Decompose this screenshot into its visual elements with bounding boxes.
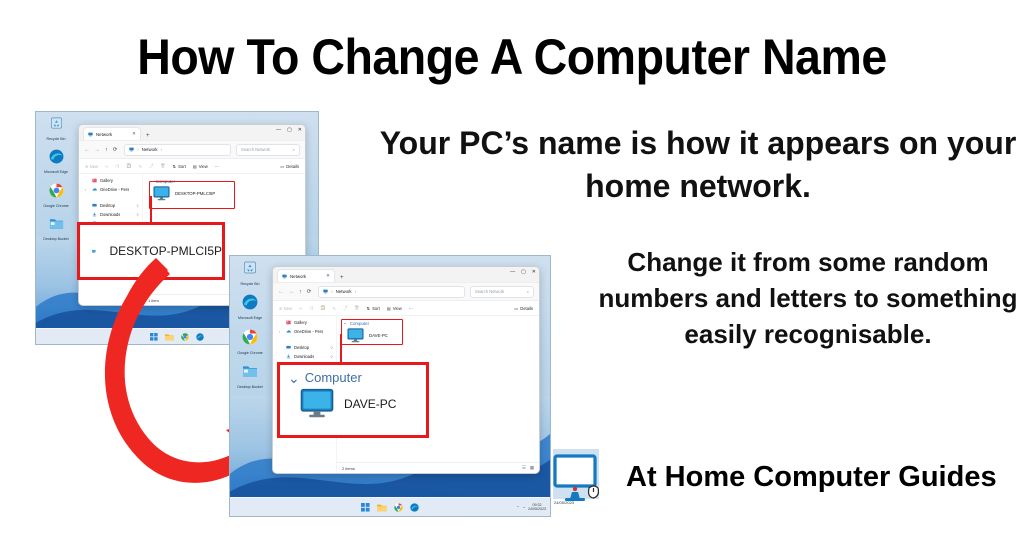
desktop-folder-icon[interactable] <box>242 363 258 379</box>
sidebar-item-desktop[interactable]: Desktop ⚲ <box>276 345 333 350</box>
sidebar-item-label: OneDrive - Pers <box>294 329 323 334</box>
onedrive-icon <box>92 187 97 192</box>
desktop-icon-label: Google Chrome <box>233 351 267 355</box>
callout-computer-row: DAVE-PC <box>288 388 418 419</box>
onedrive-icon <box>286 329 291 334</box>
system-tray[interactable]: ⌃ ◔ 09:32 24/05/2023 <box>516 503 546 511</box>
desktop-icon-label: Recycle Bin <box>39 137 73 141</box>
microsoft-edge-icon[interactable] <box>49 149 64 164</box>
delete-icon[interactable]: 🗑 <box>160 163 165 169</box>
delete-icon[interactable]: 🗑 <box>354 305 359 311</box>
monitor-icon <box>300 388 334 419</box>
back-button-icon[interactable]: ← <box>278 289 284 295</box>
sidebar-divider <box>82 196 139 199</box>
network-icon <box>88 132 93 137</box>
tab-network[interactable]: Network ✕ <box>277 269 335 282</box>
search-icon[interactable]: ⌕ <box>293 147 295 152</box>
taskbar[interactable]: ⌃ ◔ 09:32 24/05/2023 <box>230 497 550 516</box>
details-pane-button[interactable]: ▭ Details <box>514 306 533 311</box>
more-button[interactable]: ⋯ <box>409 306 413 311</box>
recycle-bin-icon[interactable] <box>49 116 64 131</box>
share-icon[interactable]: ⤴ <box>149 163 153 169</box>
recycle-bin-icon[interactable] <box>242 260 258 276</box>
close-tab-icon[interactable]: ✕ <box>132 131 136 137</box>
breadcrumb-separator: › <box>137 147 138 152</box>
minimize-button[interactable]: — <box>276 127 281 133</box>
computer-tile[interactable]: DAVE-PC <box>343 328 533 343</box>
close-button[interactable]: ✕ <box>532 269 536 275</box>
desktop-icon-google-chrome[interactable]: Google Chrome <box>39 183 73 208</box>
desktop-icon-recycle-bin[interactable]: Recycle Bin <box>39 116 73 141</box>
sidebar-item-label: Downloads <box>294 354 314 359</box>
gallery-icon <box>92 178 97 183</box>
title-bar[interactable]: Network ✕ + — ▢ ✕ <box>273 267 539 283</box>
page-title: How To Change A Computer Name <box>36 28 988 86</box>
network-icon <box>323 289 328 294</box>
forward-button-icon[interactable]: → <box>95 147 101 153</box>
body-paragraph: Change it from some random numbers and l… <box>592 245 1024 353</box>
desktop-icon-google-chrome[interactable]: Google Chrome <box>233 329 267 355</box>
close-button[interactable]: ✕ <box>298 127 302 133</box>
back-button-icon[interactable]: ← <box>84 147 90 153</box>
callout-connector-front-vertical <box>340 334 342 362</box>
downloads-icon <box>92 212 97 217</box>
tab-label: Network <box>290 274 306 279</box>
new-item-button[interactable]: ⊕ New <box>85 164 98 169</box>
network-icon <box>282 274 287 279</box>
callout-connector-back-vertical <box>150 196 152 222</box>
computer-name: DESKTOP-PMLCI5P <box>175 191 215 196</box>
details-pane-button[interactable]: ▭ Details <box>280 164 299 169</box>
sidebar-item-desktop[interactable]: Desktop ⚲ <box>82 203 139 208</box>
sort-button[interactable]: ⇅ Sort <box>367 306 380 311</box>
share-icon[interactable]: ⤴ <box>343 305 347 311</box>
sidebar-item-downloads[interactable]: Downloads ⚲ <box>276 354 333 359</box>
close-tab-icon[interactable]: ✕ <box>326 273 330 279</box>
desktop-folder-icon[interactable] <box>49 216 64 231</box>
computer-name: DAVE-PC <box>369 333 388 338</box>
up-button-icon[interactable]: ↑ <box>299 289 302 295</box>
tab-network[interactable]: Network ✕ <box>83 127 141 140</box>
search-input[interactable]: Search Network ⌕ <box>236 144 300 156</box>
maximize-button[interactable]: ▢ <box>287 127 292 133</box>
computer-tile[interactable]: DESKTOP-PMLCI5P <box>149 186 299 201</box>
brand-name: At Home Computer Guides <box>626 461 997 494</box>
pin-icon[interactable]: ⚲ <box>136 204 139 208</box>
breadcrumb-item-network[interactable]: Network <box>336 289 352 294</box>
chevron-down-icon[interactable]: ⌄ <box>343 320 347 326</box>
new-tab-button[interactable]: + <box>340 275 344 281</box>
details-label: Details <box>286 164 299 169</box>
view-toggle-group[interactable]: ☰ ▦ <box>522 465 534 471</box>
breadcrumb[interactable]: › Network › <box>318 286 465 298</box>
lead-paragraph: Your PC’s name is how it appears on your… <box>372 122 1024 208</box>
desktop-icon-recycle-bin[interactable]: Recycle Bin <box>233 260 267 286</box>
callout-group-label: Computer <box>305 370 362 385</box>
list-view-icon[interactable]: ☰ <box>522 465 526 471</box>
minimize-button[interactable]: — <box>510 269 515 275</box>
details-label: Details <box>520 306 533 311</box>
breadcrumb-separator: › <box>161 147 162 152</box>
sidebar-item-gallery[interactable]: Gallery <box>276 320 333 325</box>
sidebar-item-label: Gallery <box>294 320 307 325</box>
sidebar-item-label: Gallery <box>100 178 113 183</box>
maximize-button[interactable]: ▢ <box>521 269 526 275</box>
up-button-icon[interactable]: ↑ <box>105 147 108 153</box>
pin-icon[interactable]: ⚲ <box>330 355 333 359</box>
desktop-icon-microsoft-edge[interactable]: Microsoft Edge <box>39 149 73 174</box>
sidebar-item-onedrive[interactable]: › OneDrive - Pers <box>276 329 333 334</box>
view-button[interactable]: ▤ View <box>193 164 208 169</box>
clock-date: 24/05/2023 <box>528 507 546 511</box>
view-button[interactable]: ▤ View <box>387 306 402 311</box>
svg-text:24/05/2023: 24/05/2023 <box>554 500 575 505</box>
sort-button[interactable]: ⇅ Sort <box>173 164 186 169</box>
sidebar-item-label: Downloads <box>100 212 120 217</box>
desktop-icon-label: Desktop Bucket <box>233 385 267 389</box>
cut-icon[interactable]: ✄ <box>299 306 303 311</box>
network-icon <box>129 147 134 152</box>
sidebar-divider <box>276 338 333 341</box>
search-input[interactable]: Search Network ⌕ <box>470 286 534 298</box>
grid-view-icon[interactable]: ▦ <box>530 465 534 471</box>
group-header-computer[interactable]: ⌄ Computer <box>343 320 533 326</box>
desktop-icon-desktop-folder[interactable]: Desktop Bucket <box>39 216 73 241</box>
desktop-icon-column: Recycle Bin Microsoft Edge Google Chrome <box>39 116 73 242</box>
command-toolbar[interactable]: ⊕ New ✄ ❐ 📋 ✎ ⤴ 🗑 ⇅ Sort ▤ View ⋯ ▭ Deta… <box>273 301 539 316</box>
callout-after: ⌄ Computer DAVE-PC <box>277 362 429 438</box>
new-tab-button[interactable]: + <box>146 133 150 139</box>
desktop-icon <box>286 345 291 350</box>
microsoft-edge-icon[interactable] <box>410 503 419 512</box>
view-label: View <box>393 306 402 311</box>
refresh-button-icon[interactable]: ⟳ <box>307 289 312 295</box>
command-toolbar[interactable]: ⊕ New ✄ ❐ 📋 ✎ ⤴ 🗑 ⇅ Sort ▤ View ⋯ ▭ Deta… <box>79 159 305 174</box>
desktop-icon-label: Microsoft Edge <box>39 170 73 174</box>
sidebar-item-downloads[interactable]: Downloads ⚲ <box>82 212 139 217</box>
tray-network-icon[interactable]: ◔ <box>523 505 525 510</box>
pin-icon[interactable]: ⚲ <box>330 346 333 350</box>
monitor-logo-icon: 24/05/2023 <box>552 448 616 506</box>
sidebar-chevron[interactable]: › <box>279 330 283 334</box>
group-header-computer[interactable]: ⌄ Computer <box>149 178 299 184</box>
microsoft-edge-icon[interactable] <box>242 294 258 310</box>
sidebar-item-onedrive[interactable]: › OneDrive - Pers <box>82 187 139 192</box>
sidebar-item-label: Desktop <box>294 345 309 350</box>
status-item-count: 2 items <box>342 466 355 471</box>
desktop-icon-column: Recycle Bin Microsoft Edge Google Chrome <box>233 260 267 390</box>
sort-label: Sort <box>372 306 380 311</box>
forward-button-icon[interactable]: → <box>289 289 295 295</box>
gallery-icon <box>286 320 291 325</box>
google-chrome-icon[interactable] <box>394 503 403 512</box>
search-icon[interactable]: ⌕ <box>527 289 529 294</box>
desktop-icon-label: Desktop Bucket <box>39 237 73 241</box>
desktop-icon <box>92 203 97 208</box>
rename-icon[interactable]: ✎ <box>139 164 143 169</box>
sort-label: Sort <box>178 164 186 169</box>
chevron-down-icon[interactable]: ⌄ <box>149 178 153 184</box>
view-label: View <box>199 164 208 169</box>
copy-icon[interactable]: ❐ <box>310 306 314 311</box>
sidebar-item-label: OneDrive - Pers <box>100 187 129 192</box>
desktop-icon-desktop-folder[interactable]: Desktop Bucket <box>233 363 267 389</box>
pin-icon[interactable]: ⚲ <box>136 213 139 217</box>
monitor-icon <box>347 328 364 343</box>
brand-row: 24/05/2023 At Home Computer Guides <box>552 448 1024 506</box>
chevron-down-icon: ⌄ <box>288 371 300 385</box>
search-placeholder: Search Network <box>475 289 504 294</box>
callout-computer-name: DAVE-PC <box>344 397 396 411</box>
sidebar-item-gallery[interactable]: Gallery <box>82 178 139 183</box>
navigation-bar[interactable]: ← → ↑ ⟳ › Network › Search Network ⌕ <box>79 141 305 159</box>
file-explorer-icon[interactable] <box>377 503 387 512</box>
window-controls[interactable]: — ▢ ✕ <box>276 127 302 133</box>
taskbar-clock[interactable]: 09:32 24/05/2023 <box>528 503 546 511</box>
breadcrumb[interactable]: › Network › <box>124 144 231 156</box>
google-chrome-icon[interactable] <box>49 183 64 198</box>
tray-chevron-icon[interactable]: ⌃ <box>516 505 519 510</box>
desktop-icon-microsoft-edge[interactable]: Microsoft Edge <box>233 294 267 320</box>
sidebar-chevron[interactable]: › <box>85 188 89 192</box>
cut-icon[interactable]: ✄ <box>105 164 109 169</box>
new-item-button[interactable]: ⊕ New <box>279 306 292 311</box>
sidebar-item-label: Desktop <box>100 203 115 208</box>
navigation-bar[interactable]: ← → ↑ ⟳ › Network › Search Network ⌕ <box>273 283 539 301</box>
breadcrumb-item-network[interactable]: Network <box>142 147 158 152</box>
status-bar: 2 items ☰ ▦ <box>337 462 539 473</box>
rename-icon[interactable]: ✎ <box>333 306 337 311</box>
google-chrome-icon[interactable] <box>242 329 258 345</box>
paste-icon[interactable]: 📋 <box>320 305 325 311</box>
group-label: Computer <box>156 179 175 184</box>
more-button[interactable]: ⋯ <box>215 164 219 169</box>
window-controls[interactable]: — ▢ ✕ <box>510 269 536 275</box>
group-label: Computer <box>350 321 369 326</box>
desktop-icon-label: Recycle Bin <box>233 282 267 286</box>
paste-icon[interactable]: 📋 <box>126 163 131 169</box>
callout-group-header: ⌄ Computer <box>288 370 418 385</box>
breadcrumb-separator: › <box>355 289 356 294</box>
search-placeholder: Search Network <box>241 147 270 152</box>
copy-icon[interactable]: ❐ <box>116 164 120 169</box>
refresh-button-icon[interactable]: ⟳ <box>113 147 118 153</box>
tab-label: Network <box>96 132 112 137</box>
monitor-icon <box>153 186 170 201</box>
desktop-icon-label: Google Chrome <box>39 204 73 208</box>
desktop-icon-label: Microsoft Edge <box>233 316 267 320</box>
title-bar[interactable]: Network ✕ + — ▢ ✕ <box>79 125 305 141</box>
breadcrumb-separator: › <box>331 289 332 294</box>
start-button-icon[interactable] <box>361 503 370 512</box>
downloads-icon <box>286 354 291 359</box>
